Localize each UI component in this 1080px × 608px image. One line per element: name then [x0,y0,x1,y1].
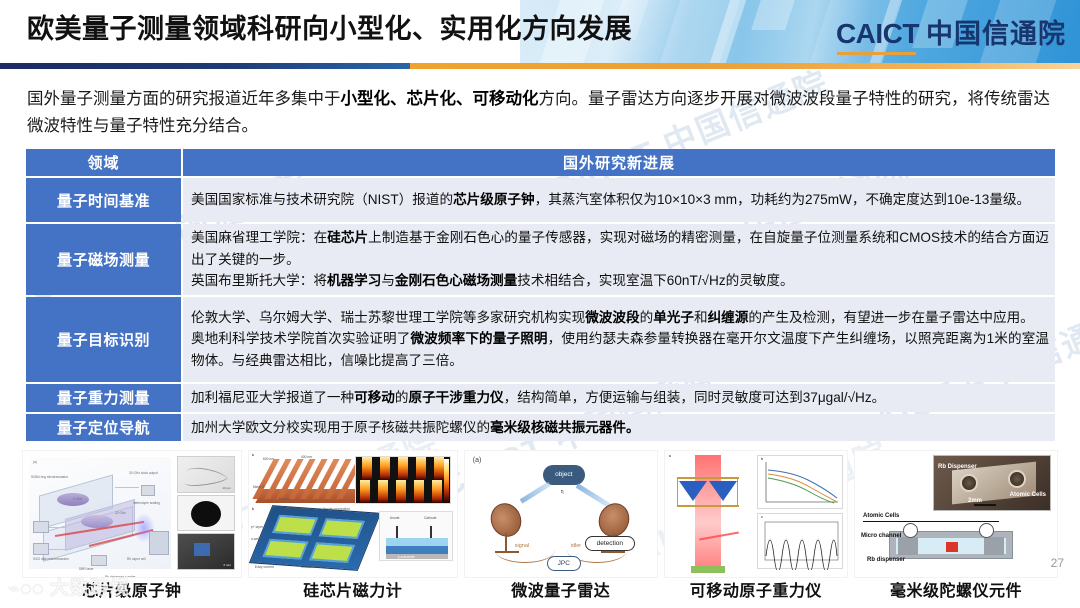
column-header-field: 领域 [26,149,181,176]
column-header-progress: 国外研究新进展 [183,149,1055,176]
emphasis-text: 微波频率下的量子照明 [410,331,547,346]
table-row: 量子定位导航加州大学欧文分校实现用于原子核磁共振陀螺仪的毫米级核磁共振元器件。 [26,414,1055,442]
clock-photo-column: 10 μm 2 mm [177,456,235,570]
table-header-row: 领域 国外研究新进展 [26,149,1055,176]
figure-silicon-magnetometer: a 600 nm 400 nm 900 nm Metal 8 [248,450,458,578]
body-text: 加利福尼亚大学报道了一种 [191,390,354,405]
laser-column [695,455,721,567]
body-text: 技术相结合，实现室温下60nT/√Hz的灵敏度。 [517,273,793,288]
material-label: Metal 8 [253,485,264,489]
schematic-label: DBR laser [79,567,94,571]
electrode-label: Anode [390,516,400,520]
body-text: 美国麻省理工学院：在 [191,230,327,245]
body-text: 的 [640,310,654,325]
rule-orange-segment [410,63,1080,69]
row-progress-text: 美国国家标准与技术研究院（NIST）报道的芯片级原子钟，其蒸汽室体积仅为10×1… [183,178,1055,222]
detection-node: detection [585,536,635,551]
progress-paragraph: 英国布里斯托大学：将机器学习与金刚石色心磁场测量技术相结合，实现室温下60nT/… [191,270,1049,292]
row-category: 量子时间基准 [26,178,181,222]
gyroscope-photo: Rb Dispenser Atomic Cells 2mm [933,455,1051,511]
caict-logo: CAICT 中国信通院 [836,12,1066,51]
effect-label: Eddy current [255,565,274,569]
figure-panel-label: c [761,515,763,519]
metal-grating [257,459,353,503]
atomic-cells-label: Atomic Cells [863,513,899,519]
slide-root: 欧美量子测量领域科研向小型化、实用化方向发展 CAICT 中国信通院 CAICT… [0,0,1080,608]
progress-paragraph: 奥地利科学技术学院首次实验证明了微波频率下的量子照明，使用约瑟夫森参量转换器在毫… [191,328,1049,371]
progress-paragraph: 加州大学欧文分校实现用于原子核磁共振陀螺仪的毫米级核磁共振元器件。 [191,417,1049,439]
body-text: ，结构简单，方便运输与组装，同时灵敏度可达到37μgal/√Hz。 [504,390,886,405]
caption-movable-gravimeter: 可移动原子重力仪 [664,580,848,606]
chip-die [249,505,381,571]
progress-paragraph: 美国麻省理工学院：在硅芯片上制造基于金刚石色心的量子传感器，实现对磁场的精密测量… [191,227,1049,270]
scale-label: 2 mm [223,563,231,567]
caption-microwave-quantum-radar: 微波量子雷达 [464,580,658,606]
emphasis-text: 金刚石色心磁场测量 [395,273,517,288]
table-row: 量子目标识别伦敦大学、乌尔姆大学、瑞士苏黎世理工学院等多家研究机构实现微波波段的… [26,297,1055,382]
intro-text-a: 国外量子测量方面的研究报道近年多集中于 [27,90,341,108]
schematic-label: SiO2 disk microresonator [33,557,69,561]
figure-panel-label: b [252,507,254,511]
header-banner: 欧美量子测量领域科研向小型化、实用化方向发展 CAICT 中国信通院 [0,0,1080,63]
row-progress-text: 美国麻省理工学院：在硅芯片上制造基于金刚石色心的量子传感器，实现对磁场的精密测量… [183,224,1055,295]
emphasis-text: 毫米级核磁共振元器件。 [490,420,640,435]
page-number: 27 [1051,556,1064,570]
layer-label: n-well [251,537,260,541]
figure-panel-label: (a) [33,460,37,464]
page-title: 欧美量子测量领域科研向小型化、实用化方向发展 [27,9,632,49]
figure-movable-gravimeter: a b c [664,450,848,578]
scale-label: 2mm [968,498,982,504]
body-text: 加州大学欧文分校实现用于原子核磁共振陀螺仪的 [191,420,490,435]
schematic-label: 22 GHz [115,511,126,515]
progress-paragraph: 加利福尼亚大学报道了一种可移动的原子干涉重力仪，结构简单，方便运输与组装，同时灵… [191,387,1049,409]
progress-paragraph: 美国国家标准与技术研究院（NIST）报道的芯片级原子钟，其蒸汽室体积仅为10×1… [191,189,1049,211]
figure-panel-label: a [252,453,254,457]
progress-paragraph: 伦敦大学、乌尔姆大学、瑞士苏黎世理工学院等多家研究机构实现微波波段的单光子和纠缠… [191,307,1049,329]
row-category: 量子定位导航 [26,414,181,442]
micro-channel-label: Micro channel [861,533,901,539]
row-progress-text: 加州大学欧文分校实现用于原子核磁共振陀螺仪的毫米级核磁共振元器件。 [183,414,1055,442]
research-progress-table: 领域 国外研究新进展 量子时间基准美国国家标准与技术研究院（NIST）报道的芯片… [24,147,1057,443]
body-text: 美国国家标准与技术研究院（NIST）报道的 [191,192,453,207]
layer-label: p+ layer [251,525,263,529]
body-text: 英国布里斯托大学：将 [191,273,327,288]
figure-panel-label: a [669,454,671,458]
logo-abbreviation: CAICT [836,18,919,50]
photo-fiber: 10 μm [177,456,235,493]
fringe-plot-svg [758,514,844,570]
body-text: 的 [395,390,409,405]
body-text: 与 [381,273,395,288]
rb-dispenser-label: Rb dispenser [867,557,905,563]
decay-plot: b [757,455,843,509]
logo-chinese-name: 中国信通院 [926,12,1066,51]
brand-logo-icon: ⌁◌◌ [8,578,44,600]
figure-mm-gyroscope: Rb Dispenser Atomic Cells 2mm Atomic Cel… [854,450,1058,578]
body-text: ，其蒸汽室体积仅为10×10×3 mm，功耗约为275mW，不确定度达到10e-… [535,192,1031,207]
gyroscope-cross-section: Atomic Cells Micro channel Rb dispenser [861,513,1033,571]
caption-mm-gyroscope: 毫米级陀螺仪元件 [854,580,1058,606]
electrode-label: Anode connection [323,507,350,511]
emphasis-text: 可移动 [354,390,395,405]
cross-section-inset: Anode Cathode p-substrate [379,511,453,561]
table-row: 量子时间基准美国国家标准与技术研究院（NIST）报道的芯片级原子钟，其蒸汽室体积… [26,178,1055,222]
row-category: 量子目标识别 [26,297,181,382]
figure-strip: (a) Si3N4 ring microresonator 1 GHz 22 G… [22,450,1058,578]
brand-watermark: ⌁◌◌ 大数跨境 [8,578,130,600]
table-body: 量子时间基准美国国家标准与技术研究院（NIST）报道的芯片级原子钟，其蒸汽室体积… [26,178,1055,441]
clock-schematic: (a) Si3N4 ring microresonator 1 GHz 22 G… [29,457,171,569]
table-row: 量子重力测量加利福尼亚大学报道了一种可移动的原子干涉重力仪，结构简单，方便运输与… [26,384,1055,412]
schematic-label: 1 GHz [73,497,82,501]
jpc-node: JPC [547,556,581,571]
table-row: 量子磁场测量美国麻省理工学院：在硅芯片上制造基于金刚石色心的量子传感器，实现对磁… [26,224,1055,295]
electrode-label: Cathode [424,516,437,520]
detection-label: detection [586,537,634,551]
row-category: 量子磁场测量 [26,224,181,295]
intro-text-emphasis: 小型化、芯片化、可移动化 [341,90,539,108]
atomic-cells-photo-label: Atomic Cells [1010,492,1046,498]
substrate-label: p-substrate [398,555,415,559]
emphasis-text: 芯片级原子钟 [453,192,535,207]
figure-captions: 芯片级原子钟 硅芯片磁力计 微波量子雷达 可移动原子重力仪 毫米级陀螺仪元件 [22,580,1058,606]
structure-label: Shallow-trench [301,565,323,569]
scale-label: 10 μm [222,486,230,490]
row-category: 量子重力测量 [26,384,181,412]
body-text: 和 [694,310,708,325]
idler-label: idler [571,543,581,549]
body-text: 伦敦大学、乌尔姆大学、瑞士苏黎世理工学院等多家研究机构实现 [191,310,585,325]
signal-label: signal [515,543,529,549]
figure-panel-label: (a) [473,457,482,464]
brand-watermark-text: 大数跨境 [50,578,130,600]
emphasis-text: 机器学习 [327,273,381,288]
emphasis-text: 硅芯片 [327,230,368,245]
rb-dispenser-photo-label: Rb Dispenser [938,464,977,470]
dimension-label: 900 nm [279,497,290,501]
header-rule [0,63,1080,69]
dimension-label: 400 nm [301,455,312,459]
emphasis-text: 单光子 [653,310,694,325]
schematic-label: Si3N4 ring microresonator [31,475,68,479]
emphasis-text: 纠缠源 [708,310,749,325]
thermal-map [355,456,451,504]
figure-microwave-quantum-radar: (a) object η signal idler detection JPC [464,450,658,578]
electrode-label: Cathode connection [281,507,311,511]
emphasis-text: 原子干涉重力仪 [409,390,504,405]
schematic-label: 30 GHz clock output [129,471,158,475]
figure-panel-label: b [761,457,763,461]
body-text: 奥地利科学技术学院首次实验证明了 [191,331,410,346]
decay-plot-svg [758,456,844,510]
intro-paragraph: 国外量子测量方面的研究报道近年多集中于小型化、芯片化、可移动化方向。量子雷达方向… [27,86,1055,140]
rule-navy-segment [0,63,410,69]
photo-package: 2 mm [177,533,235,570]
dimension-label: 600 nm [263,457,274,461]
body-text: 的产生及检测，有望进一步在量子雷达中应用。 [748,310,1033,325]
fringe-plot: c [757,513,843,569]
row-progress-text: 伦敦大学、乌尔姆大学、瑞士苏黎世理工学院等多家研究机构实现微波波段的单光子和纠缠… [183,297,1055,382]
eta-label: η [561,489,564,495]
photo-disc [177,495,235,532]
figure-chip-atomic-clock: (a) Si3N4 ring microresonator 1 GHz 22 G… [22,450,242,578]
jpc-label: JPC [548,557,580,571]
caption-silicon-magnetometer: 硅芯片磁力计 [248,580,458,606]
schematic-label: Rb vapor cell [127,557,146,561]
row-progress-text: 加利福尼亚大学报道了一种可移动的原子干涉重力仪，结构简单，方便运输与组装，同时灵… [183,384,1055,412]
emphasis-text: 微波波段 [585,310,639,325]
schematic-label: heterodyne scaling [133,501,160,505]
